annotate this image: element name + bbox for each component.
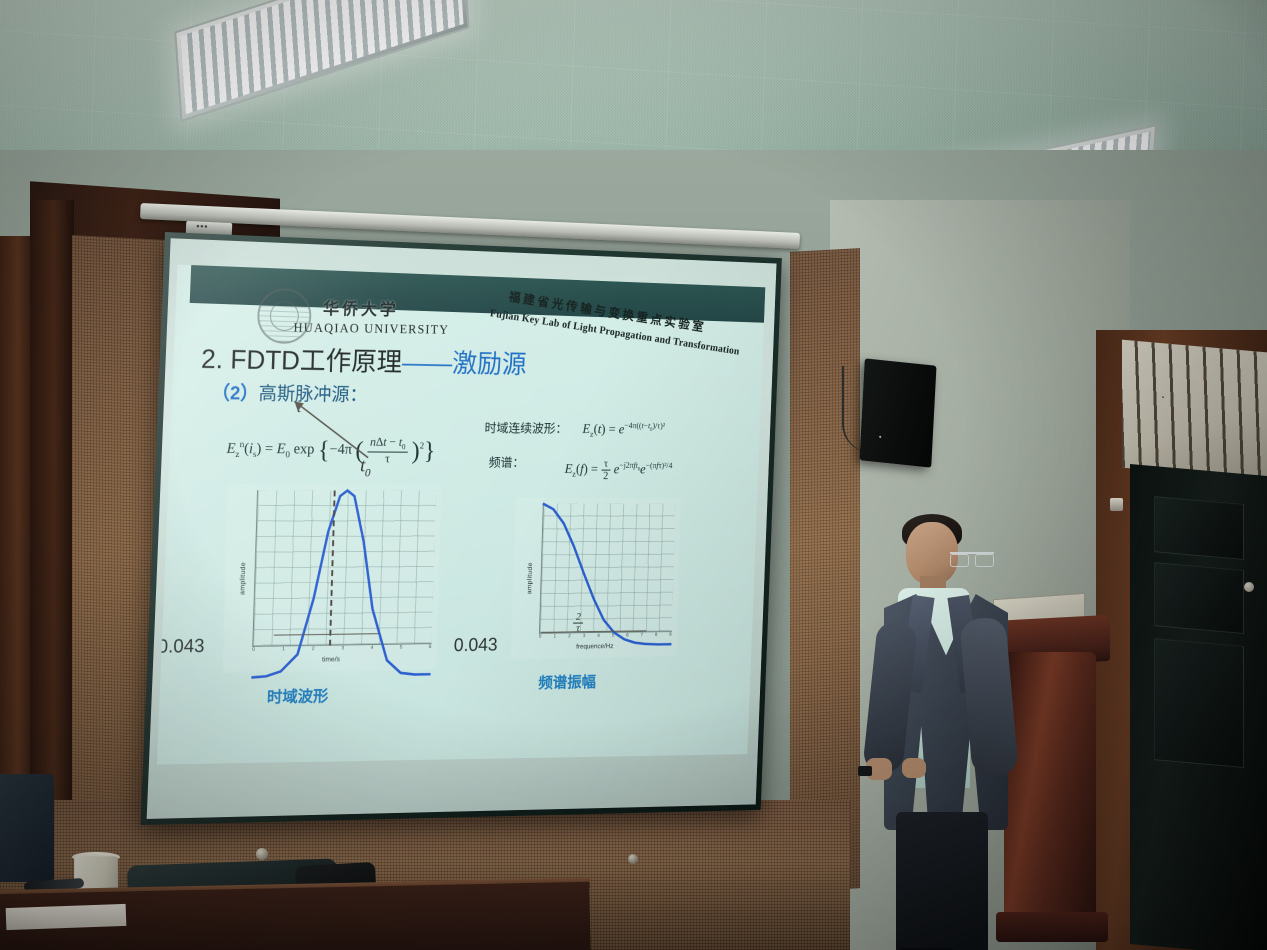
presenter-trousers: [896, 812, 988, 950]
chart-time-domain: amplitude time/s 0123456: [222, 484, 441, 673]
caption-spectrum: 频谱振幅: [538, 669, 596, 693]
university-name-en: HUAQIAO UNIVERSITY: [293, 320, 449, 338]
presenter: [862, 512, 1037, 950]
annotation-t0-sub: 0: [365, 466, 371, 479]
wall-fastener: [256, 848, 268, 860]
label-spectrum: 频谱：: [489, 452, 525, 470]
chair-back: [0, 774, 54, 882]
transom-window: [1122, 340, 1267, 481]
door-knob[interactable]: [1244, 582, 1254, 592]
university-name-cn: 华侨大学: [323, 294, 399, 320]
door-panel-inset: [1154, 638, 1244, 768]
presenter-head: [906, 522, 958, 584]
y-axis-label-time: amplitude: [239, 562, 247, 595]
window-bars-icon: [1122, 340, 1267, 481]
window-plant: [1150, 384, 1176, 406]
caption-time-domain: 时域波形: [267, 683, 329, 708]
slide-content: 华侨大学 HUAQIAO UNIVERSITY 福建省光传输与变换重点实验室 F…: [157, 265, 766, 765]
wall-fastener: [628, 854, 638, 864]
subheading-number: （2）: [211, 383, 259, 404]
door-panel-inset: [1154, 496, 1244, 560]
t0-leader-arrow: [284, 395, 374, 462]
y-axis-label-spectrum: amplitude: [527, 562, 534, 594]
chart-spectrum: amplitude frequence/Hz 0123456789: [511, 498, 681, 659]
formula-spectrum: Ez(f) = τ2 e−j2πft0e−(πfτ)²/4: [564, 458, 672, 482]
value-right: 0.043: [454, 635, 498, 657]
wall-panel-right: [790, 248, 860, 892]
door-latch-plate[interactable]: [1110, 498, 1123, 511]
gaussian-pulse-curve: [251, 490, 436, 677]
value-left: 0.043: [157, 636, 204, 659]
roller-brand-label: ●●●: [196, 224, 208, 231]
lecture-hall-photo: ●●● 华侨大学 HUAQIAO UNIVERSITY 福建省光传输与变换重点实…: [0, 0, 1267, 950]
presenter-hand-right: [902, 758, 926, 778]
bandwidth-numerator: 2: [573, 612, 584, 624]
door-panel-inset: [1154, 562, 1244, 634]
wooden-door[interactable]: [1130, 464, 1267, 950]
university-seal-icon: [256, 287, 312, 344]
spectrum-curve: [539, 504, 676, 647]
slide-title-dash: ——: [402, 348, 453, 378]
projection-screen[interactable]: 华侨大学 HUAQIAO UNIVERSITY 福建省光传输与变换重点实验室 F…: [140, 232, 789, 833]
wall-speaker: ●: [859, 358, 936, 467]
slide-title: 2. FDTD工作原理——激励源: [201, 337, 527, 381]
label-time-domain: 时域连续波形：: [484, 418, 567, 437]
slide-title-accent: 激励源: [452, 349, 527, 379]
glasses-icon: [950, 552, 994, 566]
annotation-t0: t0: [360, 456, 372, 480]
bandwidth-denominator: τ: [576, 624, 580, 635]
annotation-two-over-tau: 2τ: [573, 612, 584, 634]
formula-time-domain: Ez(t) = e−4π((t−t0)/τ)²: [582, 420, 665, 439]
papers: [6, 904, 127, 930]
slide-title-main: 2. FDTD工作原理: [201, 344, 403, 377]
presentation-remote[interactable]: [858, 766, 872, 776]
speaker-brand-label: ●: [879, 434, 882, 440]
